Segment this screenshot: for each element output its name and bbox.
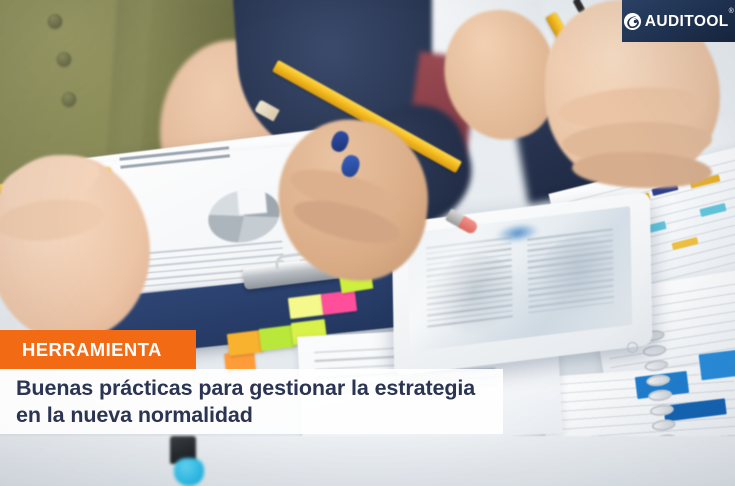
auditool-logo-text: AUDITOOL® [645,14,734,30]
shirt-button [62,92,76,106]
title-line-2: en la nueva normalidad [16,402,475,428]
shirt-button [48,14,62,28]
auditool-logo-badge[interactable]: AUDITOOL® [622,0,735,42]
title-line-1: Buenas prácticas para gestionar la estra… [16,376,475,400]
chart-bar-blue [699,350,735,381]
auditool-swirl-a-icon [623,12,642,31]
desk-foreground [0,436,735,486]
category-badge-label: HERRAMIENTA [0,339,162,361]
pie-chart-slice-gap [237,187,267,215]
title-band: Buenas prácticas para gestionar la estra… [0,369,503,434]
category-badge: HERRAMIENTA [0,330,196,369]
sticky-note-tab [259,325,295,351]
trademark-symbol: ® [729,8,735,15]
cyan-marker-tip [174,458,204,486]
sticky-note-tab [288,294,324,319]
sticky-note-tab [321,290,357,315]
shirt-button [57,52,71,66]
sticky-note-tab [227,330,263,356]
banner-image: AUDITOOL® HERRAMIENTA Buenas prácticas p… [0,0,735,486]
page-title: Buenas prácticas para gestionar la estra… [0,375,475,427]
